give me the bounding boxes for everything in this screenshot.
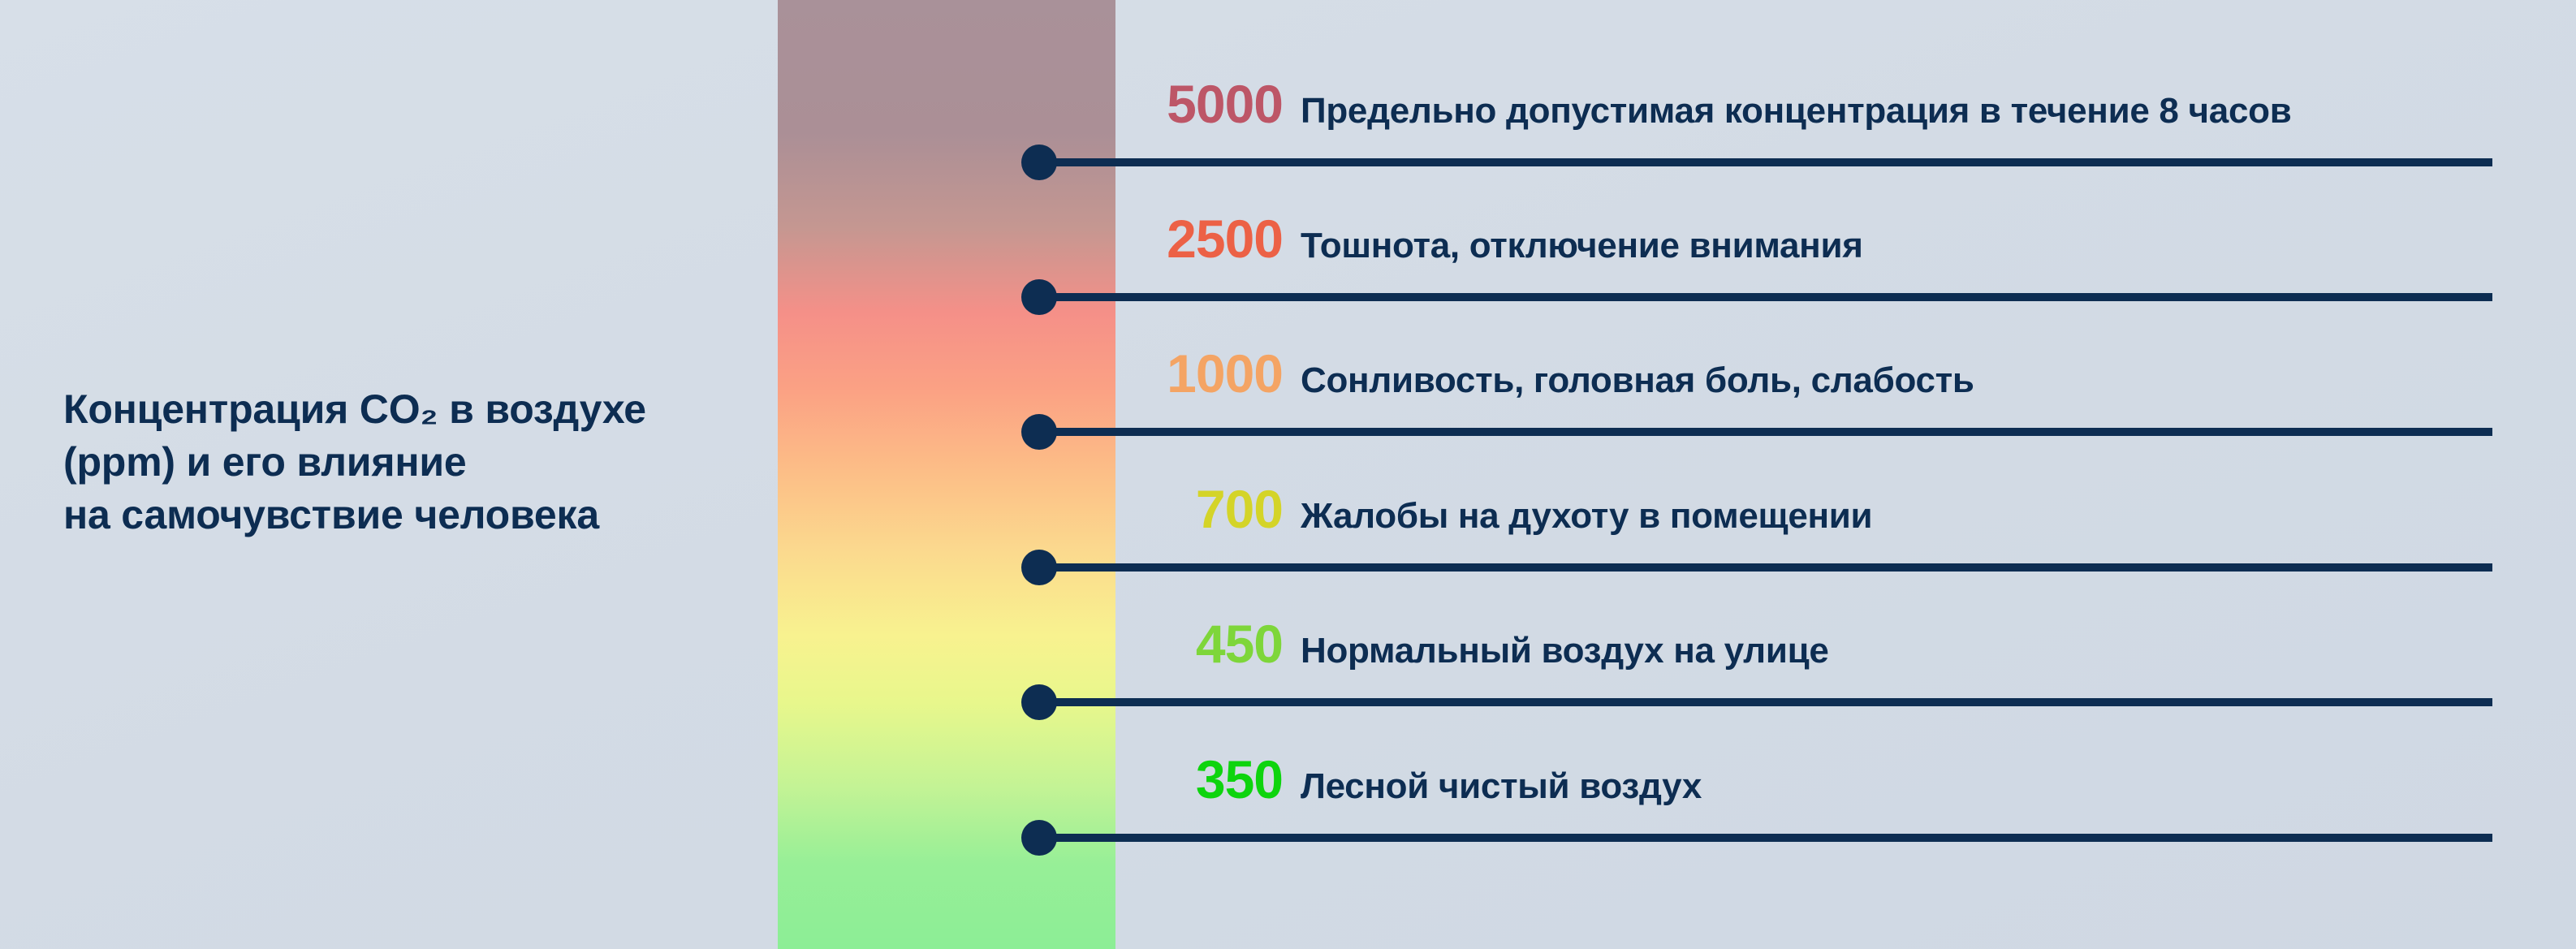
connector-dot-icon	[1021, 820, 1057, 856]
list-item-content: 350Лесной чистый воздух	[1128, 753, 1702, 819]
connector-line	[1039, 834, 2492, 842]
co2-ppm-value: 2500	[1128, 212, 1283, 265]
connector-dot-icon	[1021, 279, 1057, 315]
co2-effect-label: Лесной чистый воздух	[1301, 769, 1702, 804]
connector-dot-icon	[1021, 145, 1057, 180]
connector-line	[1039, 698, 2492, 706]
connector-line	[1039, 563, 2492, 572]
co2-ppm-value: 350	[1128, 753, 1283, 806]
page-title-line-1: Концентрация CO₂ в воздухе	[63, 383, 737, 436]
co2-ppm-value: 1000	[1128, 347, 1283, 400]
list-item-content: 2500Тошнота, отключение внимания	[1128, 212, 1863, 278]
page-title-line-2: (ppm) и его влияние	[63, 436, 737, 489]
connector-line	[1039, 428, 2492, 436]
co2-severity-gradient-band	[778, 0, 1115, 949]
co2-ppm-value: 700	[1128, 482, 1283, 536]
connector-dot-icon	[1021, 550, 1057, 585]
connector-dot-icon	[1021, 684, 1057, 720]
connector-line	[1039, 293, 2492, 301]
list-item-content: 1000Сонливость, головная боль, слабость	[1128, 347, 1974, 413]
list-item-content: 450Нормальный воздух на улице	[1128, 617, 1829, 684]
connector-line	[1039, 158, 2492, 166]
list-item-content: 700Жалобы на духоту в помещении	[1128, 482, 1872, 549]
co2-effect-label: Предельно допустимая концентрация в тече…	[1301, 93, 2291, 129]
co2-effect-label: Сонливость, головная боль, слабость	[1301, 363, 1974, 399]
co2-ppm-value: 5000	[1128, 77, 1283, 131]
co2-ppm-value: 450	[1128, 617, 1283, 671]
list-item-content: 5000Предельно допустимая концентрация в …	[1128, 77, 2291, 144]
co2-effect-label: Тошнота, отключение внимания	[1301, 228, 1863, 264]
connector-dot-icon	[1021, 414, 1057, 450]
infographic-canvas: Концентрация CO₂ в воздухе (ppm) и его в…	[0, 0, 2576, 949]
co2-effect-label: Нормальный воздух на улице	[1301, 633, 1829, 669]
page-title: Концентрация CO₂ в воздухе (ppm) и его в…	[63, 383, 737, 541]
page-title-line-3: на самочувствие человека	[63, 489, 737, 541]
co2-effect-label: Жалобы на духоту в помещении	[1301, 498, 1872, 534]
